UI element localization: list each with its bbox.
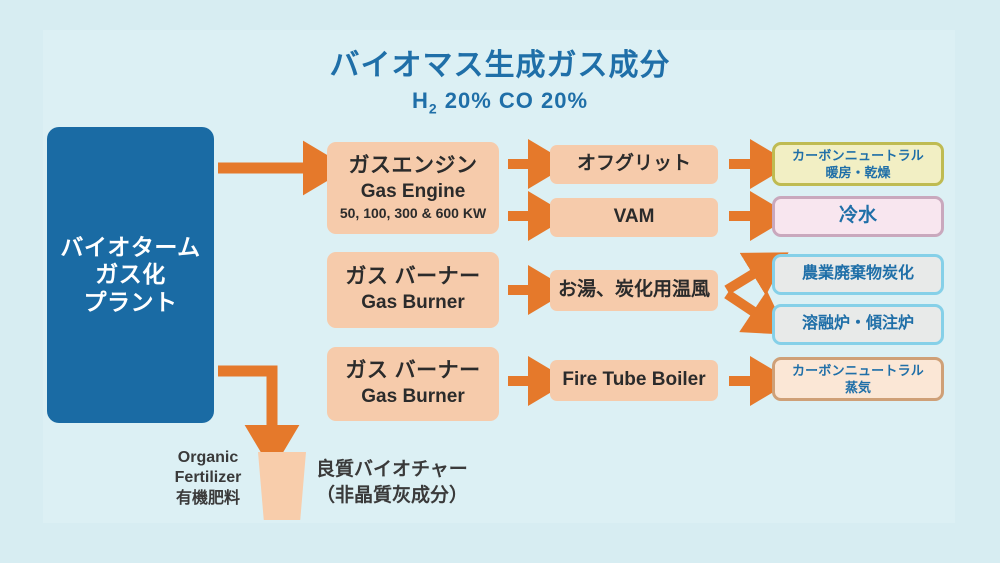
gas-composition-subtitle: H2 20% CO 20%: [0, 88, 1000, 116]
vam-box[interactable]: VAM: [550, 198, 718, 237]
carbon-neutral-heating-box[interactable]: カーボンニュートラル 暖房・乾燥: [772, 142, 944, 186]
vam-label: VAM: [614, 206, 655, 228]
diagram-canvas: バイオマス生成ガス成分 H2 20% CO 20% バイオターム ガス化 プラン…: [0, 0, 1000, 563]
gasification-plant-box[interactable]: バイオターム ガス化 プラント: [47, 127, 214, 423]
agricultural-waste-carbonization-box[interactable]: 農業廃棄物炭化: [772, 254, 944, 295]
carbon-neutral-heating-line1: カーボンニュートラル: [792, 148, 924, 163]
organic-fertilizer-label: Organic Fertilizer 有機肥料: [160, 448, 256, 509]
carbon-neutral-steam-line1: カーボンニュートラル: [792, 363, 924, 378]
plant-line-2: ガス化: [95, 261, 166, 288]
hot-water-air-label: お湯、炭化用温風: [558, 279, 710, 301]
organic-fertilizer-en-line1: Organic: [160, 448, 256, 468]
gas-burner-1-en-label: Gas Burner: [361, 292, 464, 314]
melting-tilting-furnace-box[interactable]: 溶融炉・傾注炉: [772, 304, 944, 345]
gas-burner-2-jp-label: ガス バーナー: [345, 359, 480, 384]
fire-tube-boiler-label: Fire Tube Boiler: [562, 369, 705, 391]
hot-water-air-box[interactable]: お湯、炭化用温風: [550, 270, 718, 311]
plant-line-1: バイオターム: [60, 234, 200, 261]
gas-burner-2-en-label: Gas Burner: [361, 386, 464, 408]
gas-engine-capacity-label: 50, 100, 300 & 600 KW: [340, 205, 486, 222]
carbon-neutral-heating-line2: 暖房・乾燥: [825, 165, 890, 180]
fire-tube-boiler-box[interactable]: Fire Tube Boiler: [550, 360, 718, 401]
h2-symbol: H: [412, 88, 429, 113]
biochar-line2: （非晶質灰成分）: [316, 483, 516, 509]
gas-burner-2-box[interactable]: ガス バーナー Gas Burner: [327, 347, 499, 421]
biochar-line1: 良質バイオチャー: [316, 457, 516, 483]
cold-water-label: 冷水: [839, 205, 877, 227]
organic-fertilizer-jp: 有機肥料: [160, 489, 256, 509]
page-title: バイオマス生成ガス成分: [0, 40, 1000, 84]
organic-fertilizer-en-line2: Fertilizer: [160, 468, 256, 488]
gas-burner-1-box[interactable]: ガス バーナー Gas Burner: [327, 252, 499, 328]
offgrid-label: オフグリット: [577, 153, 691, 175]
cold-water-box[interactable]: 冷水: [772, 196, 944, 237]
biochar-trapezoid-shape: [258, 452, 306, 520]
carbon-neutral-steam-line2: 蒸気: [845, 380, 871, 395]
gas-engine-jp-label: ガスエンジン: [349, 154, 478, 179]
gas-engine-en-label: Gas Engine: [361, 181, 466, 203]
offgrid-box[interactable]: オフグリット: [550, 145, 718, 184]
biochar-label: 良質バイオチャー （非晶質灰成分）: [316, 457, 516, 508]
gas-engine-box[interactable]: ガスエンジン Gas Engine 50, 100, 300 & 600 KW: [327, 142, 499, 234]
plant-line-3: プラント: [84, 289, 178, 316]
melting-tilting-furnace-label: 溶融炉・傾注炉: [802, 315, 914, 334]
carbon-neutral-steam-box[interactable]: カーボンニュートラル 蒸気: [772, 357, 944, 401]
gas-burner-1-jp-label: ガス バーナー: [345, 265, 480, 290]
agricultural-waste-carbonization-label: 農業廃棄物炭化: [802, 265, 914, 284]
h2-subscript: 2: [429, 100, 438, 116]
composition-values: 20% CO 20%: [438, 88, 588, 113]
